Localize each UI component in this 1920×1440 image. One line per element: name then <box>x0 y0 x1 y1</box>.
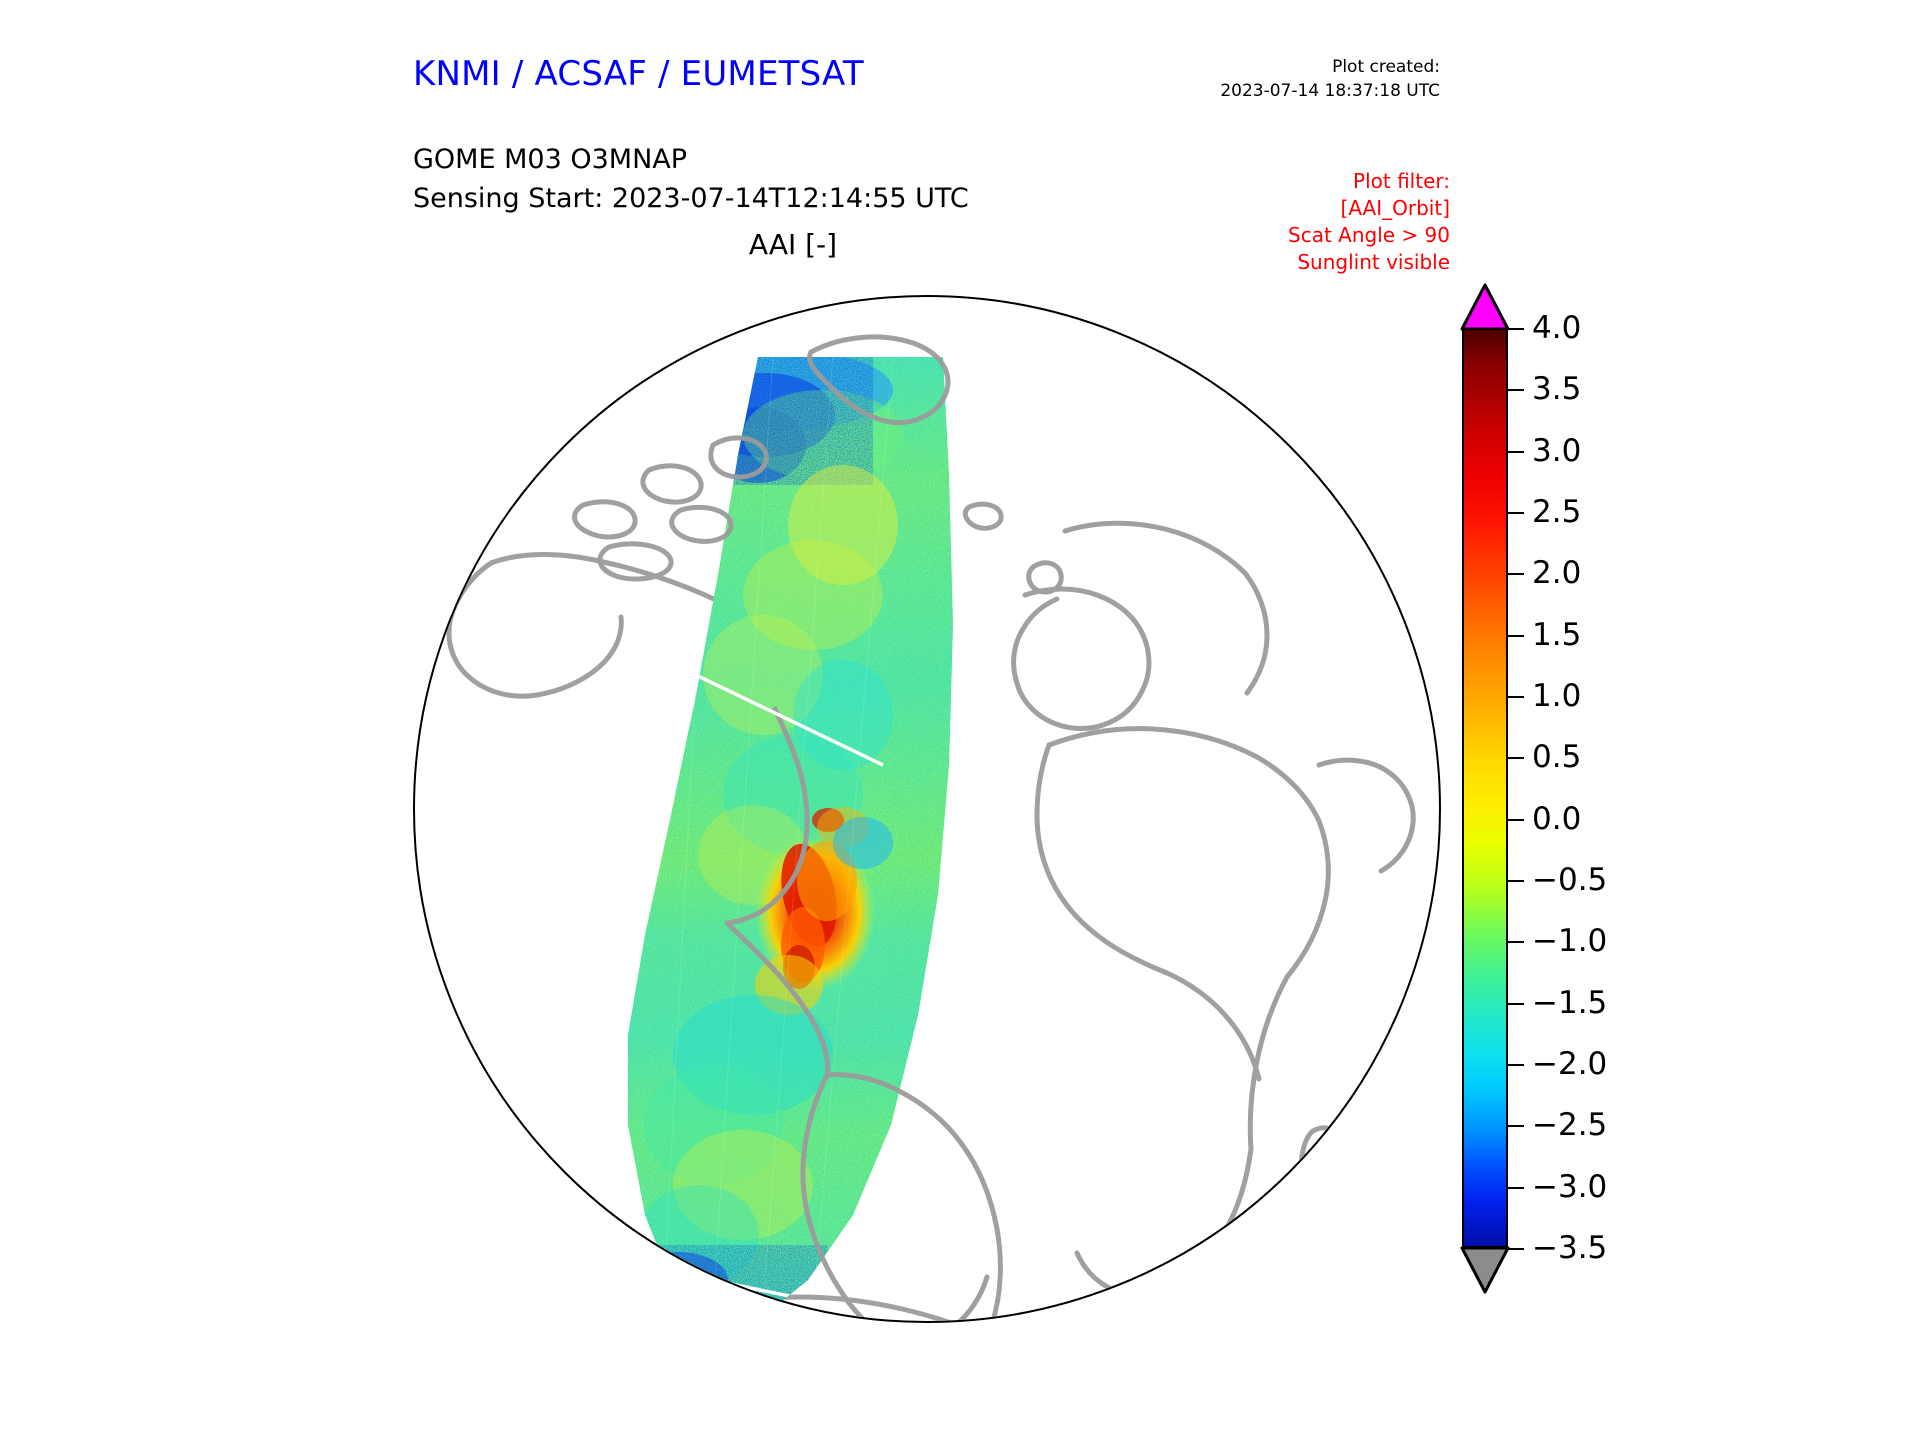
colorbar-tick-label: 0.5 <box>1532 739 1581 775</box>
colorbar-tick <box>1508 635 1524 637</box>
globe-content <box>413 295 1445 1327</box>
colorbar-tick <box>1508 819 1524 821</box>
colorbar-tick-label: 1.5 <box>1532 617 1581 653</box>
colorbar-tick <box>1508 1125 1524 1127</box>
colorbar-tick <box>1508 941 1524 943</box>
colorbar-tick-label: −3.0 <box>1532 1169 1607 1205</box>
colorbar-tick <box>1508 389 1524 391</box>
colorbar-tick <box>1508 573 1524 575</box>
colorbar-tick-label: −0.5 <box>1532 862 1607 898</box>
plot-filter-block: Plot filter: [AAI_Orbit] Scat Angle > 90… <box>1180 168 1450 276</box>
colorbar-tick <box>1508 1064 1524 1066</box>
colorbar: 4.03.53.02.52.01.51.00.50.0−0.5−1.0−1.5−… <box>1448 285 1698 1335</box>
plot-filter-scat-angle: Scat Angle > 90 <box>1180 222 1450 249</box>
plot-created-timestamp: 2023-07-14 18:37:18 UTC <box>1160 79 1440 103</box>
orbit-swath <box>613 337 973 1327</box>
colorbar-tick <box>1508 328 1524 330</box>
colorbar-tick-label: −2.5 <box>1532 1107 1607 1143</box>
colorbar-tick <box>1508 1187 1524 1189</box>
colorbar-under-range-outline <box>1460 1246 1510 1294</box>
plot-filter-name: [AAI_Orbit] <box>1180 195 1450 222</box>
plot-filter-label: Plot filter: <box>1180 168 1450 195</box>
colorbar-tick-label: 0.0 <box>1532 801 1581 837</box>
instrument-product-line: GOME M03 O3MNAP <box>413 140 969 179</box>
colorbar-tick-label: 2.5 <box>1532 494 1581 530</box>
colorbar-tick <box>1508 1003 1524 1005</box>
colorbar-tick <box>1508 1248 1524 1250</box>
colorbar-tick-label: 3.5 <box>1532 371 1581 407</box>
colorbar-tick-label: 4.0 <box>1532 310 1581 346</box>
colorbar-tick <box>1508 880 1524 882</box>
colorbar-tick-label: −3.5 <box>1532 1230 1607 1266</box>
colorbar-tick <box>1508 512 1524 514</box>
colorbar-over-range-outline <box>1460 283 1510 331</box>
plot-created-label: Plot created: <box>1160 55 1440 79</box>
colorbar-tick <box>1508 451 1524 453</box>
colorbar-tick-label: −1.0 <box>1532 923 1607 959</box>
colorbar-tick-label: 1.0 <box>1532 678 1581 714</box>
colorbar-gradient <box>1462 328 1508 1248</box>
variable-title: AAI [-] <box>413 228 1173 261</box>
colorbar-tick-label: −2.0 <box>1532 1046 1607 1082</box>
organisation-title: KNMI / ACSAF / EUMETSAT <box>413 54 864 94</box>
sensing-start-line: Sensing Start: 2023-07-14T12:14:55 UTC <box>413 179 969 218</box>
plot-created-block: Plot created: 2023-07-14 18:37:18 UTC <box>1160 55 1440 103</box>
colorbar-tick <box>1508 696 1524 698</box>
colorbar-tick-label: 3.0 <box>1532 433 1581 469</box>
colorbar-tick-label: 2.0 <box>1532 555 1581 591</box>
metadata-block: GOME M03 O3MNAP Sensing Start: 2023-07-1… <box>413 140 969 218</box>
plot-filter-sunglint: Sunglint visible <box>1180 249 1450 276</box>
colorbar-tick <box>1508 757 1524 759</box>
colorbar-tick-label: −1.5 <box>1532 985 1607 1021</box>
globe-map <box>413 295 1445 1327</box>
